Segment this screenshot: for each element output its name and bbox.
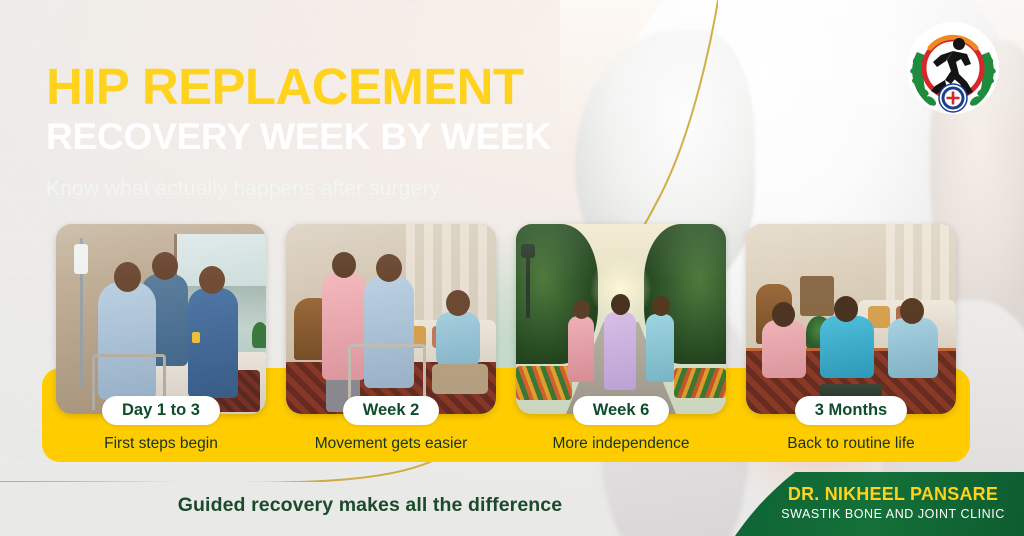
stage-caption-2: Movement gets easier bbox=[315, 435, 468, 453]
stage-card-2[interactable] bbox=[286, 224, 496, 414]
headline-block: HIP REPLACEMENT RECOVERY WEEK BY WEEK Kn… bbox=[46, 62, 646, 201]
stage-label-3: Week 6 More independence bbox=[516, 396, 726, 453]
stage-card-3[interactable] bbox=[516, 224, 726, 414]
page-subtitle: RECOVERY WEEK BY WEEK bbox=[46, 118, 646, 155]
stage-label-1: Day 1 to 3 First steps begin bbox=[56, 396, 266, 453]
stage-label-4: 3 Months Back to routine life bbox=[746, 396, 956, 453]
stage-pill-2[interactable]: Week 2 bbox=[343, 396, 440, 425]
stage-card-4[interactable] bbox=[746, 224, 956, 414]
poster-canvas: HIP REPLACEMENT RECOVERY WEEK BY WEEK Kn… bbox=[0, 0, 1024, 536]
stage-pill-4[interactable]: 3 Months bbox=[795, 396, 907, 425]
stage-card-1[interactable] bbox=[56, 224, 266, 414]
stage-caption-3: More independence bbox=[552, 435, 689, 453]
stage-label-2: Week 2 Movement gets easier bbox=[286, 396, 496, 453]
stage-cards bbox=[56, 224, 956, 414]
stage-caption-1: First steps begin bbox=[104, 435, 218, 453]
stage-labels: Day 1 to 3 First steps begin Week 2 Move… bbox=[56, 396, 956, 453]
stage-caption-4: Back to routine life bbox=[787, 435, 915, 453]
clinic-logo-icon bbox=[901, 18, 1005, 122]
clinic-branding: DR. NIKHEEL PANSARE SWASTIK BONE AND JOI… bbox=[768, 484, 1018, 521]
doctor-name: DR. NIKHEEL PANSARE bbox=[768, 484, 1018, 505]
stage-pill-1[interactable]: Day 1 to 3 bbox=[102, 396, 220, 425]
clinic-name: SWASTIK BONE AND JOINT CLINIC bbox=[768, 507, 1018, 521]
tagline-text: Know what actually happens after surgery bbox=[46, 177, 646, 201]
page-title: HIP REPLACEMENT bbox=[46, 62, 646, 112]
stage-pill-3[interactable]: Week 6 bbox=[573, 396, 670, 425]
footer-tagline: Guided recovery makes all the difference bbox=[0, 494, 740, 517]
